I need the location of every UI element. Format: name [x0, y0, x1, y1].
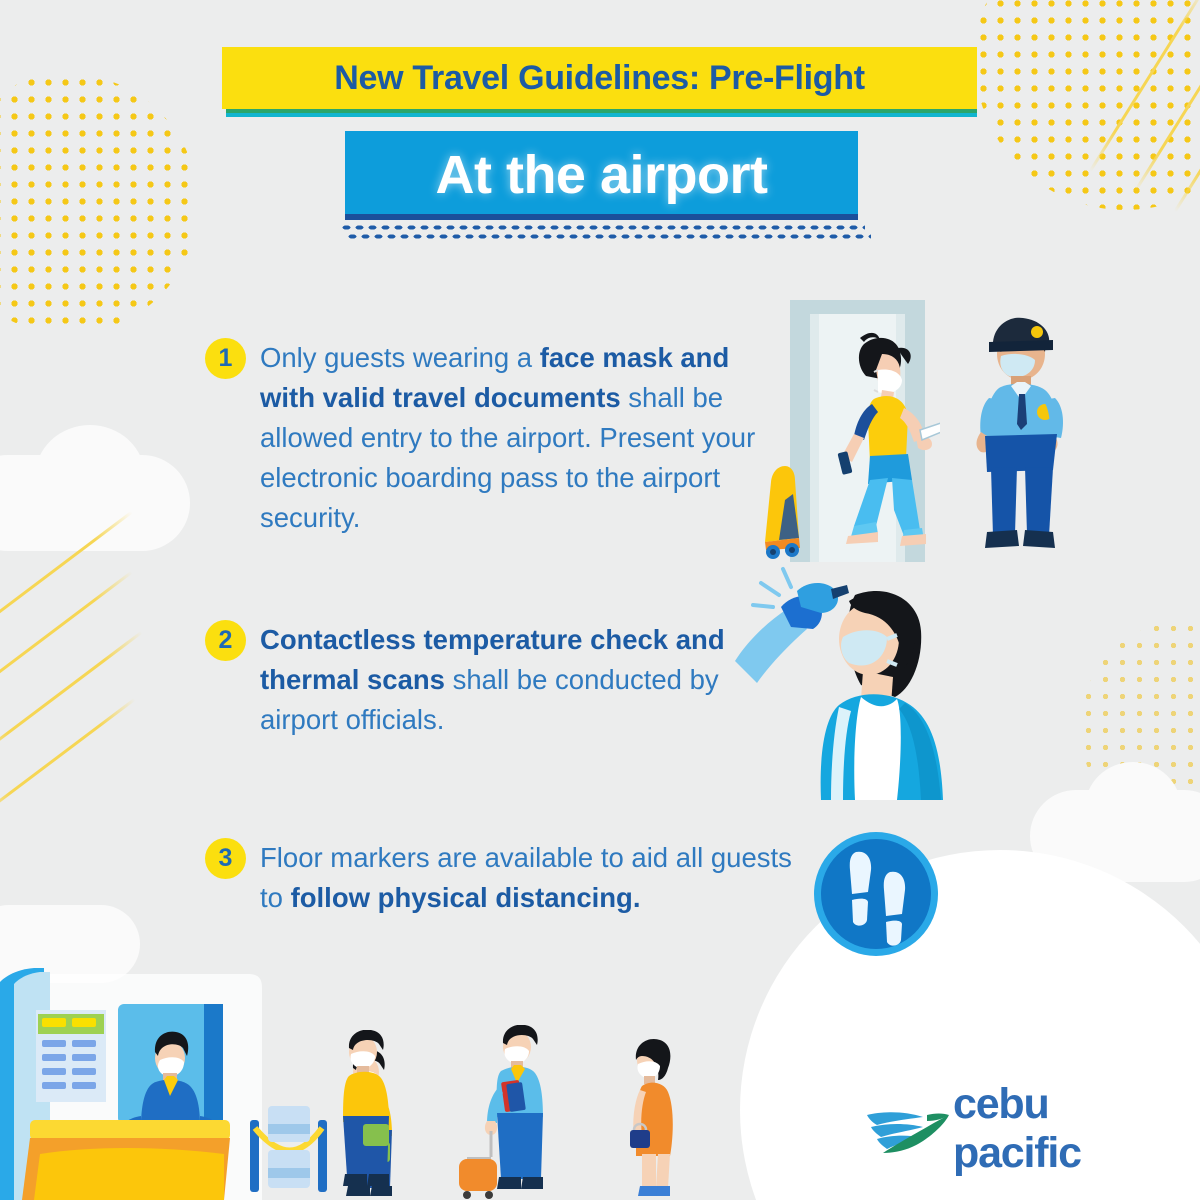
guideline-1-seg-1: Only guests wearing a	[260, 342, 540, 373]
halftone-dots-left	[0, 74, 198, 334]
halftone-dots-right	[1080, 620, 1200, 835]
cloud-shape-left	[0, 455, 190, 551]
diagonal-line-left-2	[0, 571, 133, 703]
thermal-scan-illustration	[735, 565, 960, 800]
footprint-floor-marker-icon	[812, 830, 940, 958]
guideline-3-seg-2: follow physical distancing.	[291, 882, 641, 913]
banner-title-bar: At the airport	[345, 131, 858, 219]
halftone-dots-top-right	[975, 0, 1200, 210]
diagonal-line-right-2	[1134, 8, 1200, 192]
diagonal-line-right-3	[1174, 28, 1200, 212]
page-title: New Travel Guidelines: Pre-Flight	[334, 59, 864, 98]
brand-wordmark: cebu pacific	[953, 1080, 1170, 1178]
cloud-shape-left-puff	[35, 425, 145, 529]
banner-dot-row-lower	[346, 233, 871, 240]
guideline-item-2: 2 Contactless temperature check and ther…	[205, 620, 765, 740]
guideline-text-1: Only guests wearing a face mask and with…	[260, 338, 765, 538]
brand-logo: cebu pacific	[865, 1098, 1170, 1160]
diagonal-line-left-1	[0, 511, 133, 643]
title-underline-teal	[226, 113, 977, 117]
diagonal-line-left-4	[0, 698, 136, 821]
masked-passenger-with-suitcase	[455, 1025, 565, 1200]
guideline-number-badge-2: 2	[205, 620, 246, 661]
infographic-poster: New Travel Guidelines: Pre-Flight At the…	[0, 0, 1200, 1200]
guideline-text-3: Floor markers are available to aid all g…	[260, 838, 820, 918]
diagonal-line-right-1	[1089, 0, 1200, 172]
guideline-number-badge-1: 1	[205, 338, 246, 379]
masked-passenger-yellow-top	[325, 1030, 403, 1200]
guideline-number-badge-3: 3	[205, 838, 246, 879]
banner-dot-row-upper	[340, 224, 865, 231]
masked-passenger-orange-dress	[610, 1038, 690, 1200]
yellow-suitcase-illustration	[755, 460, 817, 560]
masked-traveller-illustration	[820, 330, 940, 562]
cebu-pacific-bird-icon	[865, 1101, 951, 1157]
airport-security-guard-illustration	[965, 312, 1075, 562]
banner-title: At the airport	[435, 144, 767, 206]
diagonal-line-left-3	[0, 631, 143, 763]
cloud-shape-right-puff	[1085, 762, 1181, 854]
eyebrow-title-bar: New Travel Guidelines: Pre-Flight	[222, 47, 977, 109]
guideline-item-1: 1 Only guests wearing a face mask and wi…	[205, 338, 765, 538]
guideline-text-2: Contactless temperature check and therma…	[260, 620, 765, 740]
guideline-item-3: 3 Floor markers are available to aid all…	[205, 838, 820, 918]
banner-shadow-rule	[345, 214, 858, 220]
